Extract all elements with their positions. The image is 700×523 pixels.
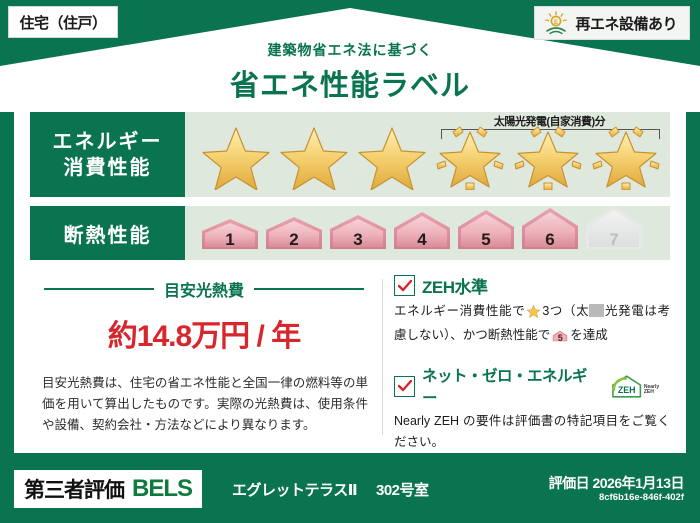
svg-text:E: E [554,20,558,26]
zeh-standard-header: ZEH水準 [394,273,670,298]
document-type-tab: 住宅（住戸） [8,6,118,38]
insulation-level-scale: 1 2 3 [199,204,645,256]
net-zero-energy-header: ネット・ゼロ・エネルギー ZEH Nearly ZEH [394,364,670,408]
star-solar [511,120,585,190]
net-zero-energy-checkbox[interactable] [394,376,415,397]
insulation-label-text: 断熱性能 [64,219,152,248]
evaluation-id: 8cf6b16e-846f-402f [599,492,684,503]
star-solar [589,120,663,190]
property-name: エグレットテラスⅡ [232,479,357,500]
insulation-level-house-inactive: 7 [583,204,645,256]
insulation-level-number: 3 [327,230,389,250]
zeh-standard-title: ZEH水準 [422,273,488,298]
energy-performance-row: エネルギー 消費性能 太陽光発電(自家消費)分 [30,112,670,197]
check-icon [398,280,412,292]
renewable-energy-badge: E 再エネ設備あり [534,6,690,40]
inline-star-icon [526,303,541,325]
insulation-level-house: 2 [263,215,325,256]
header-subtitle: 建築物省エネ法に基づく [0,40,700,60]
zeh-standard-body: エネルギー消費性能で3つ（太光発電は考慮しない）、かつ断熱性能で5を達成 [394,301,670,350]
heading-rule-right [254,288,364,290]
energy-cost-heading-text: 目安光熱費 [164,277,244,301]
energy-star-rating [199,120,663,190]
bels-logo-text: BELS [132,475,192,503]
label-body-panel: エネルギー 消費性能 太陽光発電(自家消費)分 [14,98,686,453]
insulation-level-house: 6 [519,206,581,256]
zeh-body-part4: を達成 [570,328,608,342]
insulation-level-house: 4 [391,210,453,256]
star-filled [277,120,351,190]
zeh-logo-sub: Nearly ZEH [644,385,670,398]
check-icon [398,380,412,392]
footer-bar: 第三者評価 BELS エグレットテラスⅡ 302号室 評価日 2026年1月13… [0,461,700,523]
insulation-performance-body: 1 2 3 [185,206,670,260]
star-filled [355,120,429,190]
insulation-level-house: 5 [455,208,517,256]
page-title: 省エネ性能ラベル [0,62,700,104]
sun-icon: E [543,11,569,35]
svg-text:ZEH: ZEH [617,385,635,395]
column-divider [382,279,383,435]
zeh-body-part2: 3つ（太 [542,304,589,318]
insulation-level-house: 3 [327,213,389,256]
renewable-energy-label: 再エネ設備あり [575,13,677,34]
property-room: 302号室 [376,479,429,500]
zeh-body-part1: エネルギー消費性能で [394,304,525,318]
document-type-label: 住宅（住戸） [19,12,106,33]
insulation-level-number: 4 [391,230,453,250]
star-filled [199,120,273,190]
star-solar [433,120,507,190]
insulation-level-number: 7 [583,230,645,250]
inline-house-number: 5 [552,328,568,349]
obscured-character [589,304,604,317]
inline-house-badge: 5 [552,329,568,350]
header-text-group: 建築物省エネ法に基づく 省エネ性能ラベル [0,40,700,104]
insulation-performance-row: 断熱性能 [30,206,670,260]
bels-plate: 第三者評価 BELS [14,470,202,508]
energy-performance-label: エネルギー 消費性能 [30,112,185,197]
energy-cost-column: 目安光熱費 約14.8万円 / 年 目安光熱費は、住宅の省エネ性能と全国一律の燃… [30,273,378,441]
energy-cost-value: 約14.8万円 / 年 [30,311,378,355]
zeh-column: ZEH水準 エネルギー消費性能で3つ（太光発電は考慮しない）、かつ断熱性能で5を… [394,273,670,453]
insulation-level-number: 5 [455,230,517,250]
energy-label-line1: エネルギー [53,129,163,155]
lower-section: 目安光熱費 約14.8万円 / 年 目安光熱費は、住宅の省エネ性能と全国一律の燃… [30,273,670,441]
energy-performance-body: 太陽光発電(自家消費)分 [185,112,670,197]
zeh-house-icon: ZEH [610,374,643,398]
insulation-level-number: 1 [199,230,261,250]
insulation-performance-label: 断熱性能 [30,206,185,260]
insulation-level-number: 2 [263,230,325,250]
energy-label-line2: 消費性能 [64,155,152,181]
insulation-level-number: 6 [519,230,581,250]
heading-rule-left [44,288,154,290]
energy-cost-heading: 目安光熱費 [44,277,364,301]
insulation-level-house: 1 [199,217,261,256]
third-party-eval-label: 第三者評価 [24,474,124,504]
evaluation-date: 評価日 2026年1月13日 [549,473,684,493]
energy-cost-note: 目安光熱費は、住宅の省エネ性能と全国一律の燃料等の単価を用いて算出したものです。… [42,373,368,436]
net-zero-energy-body: Nearly ZEH の要件は評価書の特記項目をご覧ください。 [394,411,670,453]
net-zero-energy-title: ネット・ゼロ・エネルギー [422,364,599,408]
zeh-standard-checkbox[interactable] [394,275,415,296]
zeh-logo: ZEH Nearly ZEH [610,374,670,398]
